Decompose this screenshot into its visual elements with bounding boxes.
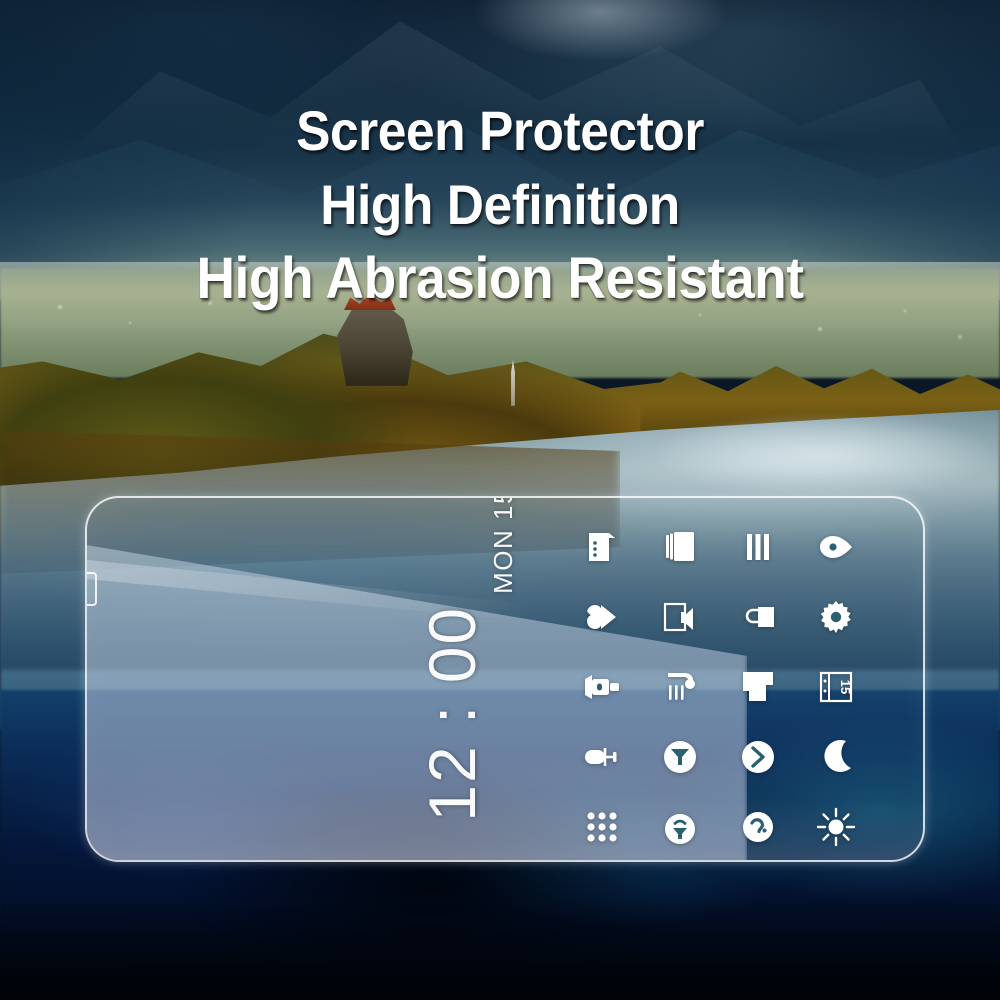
microphone-icon[interactable] (580, 735, 624, 779)
mug-lock-icon[interactable] (736, 595, 780, 639)
quick-settings-icon-grid: 15 (563, 512, 875, 862)
three-bars-icon[interactable] (736, 525, 780, 569)
location-pin-eye-icon[interactable] (814, 525, 858, 569)
flashlight-icon[interactable] (580, 665, 624, 709)
video-camera-icon[interactable] (658, 595, 702, 639)
gear-icon[interactable] (814, 595, 858, 639)
filter-circle-icon[interactable] (658, 735, 702, 779)
wifi-hotspot-icon[interactable] (658, 805, 702, 849)
clock-chevron-icon[interactable] (736, 735, 780, 779)
question-mark-icon[interactable] (736, 805, 780, 849)
calendar-icon[interactable]: 15 (814, 665, 858, 709)
crescent-moon-icon[interactable] (814, 735, 858, 779)
headline-line-1: Screen Protector (40, 94, 960, 168)
clock-time: 12 : 00 (419, 606, 485, 822)
bottom-vignette (0, 900, 1000, 1000)
headline-line-2: High Definition (40, 168, 960, 242)
headline-block: Screen Protector High Definition High Ab… (40, 94, 960, 316)
book-pages-icon[interactable] (658, 525, 702, 569)
copy-layers-icon[interactable] (736, 665, 780, 709)
dialpad-grid-icon[interactable] (580, 805, 624, 849)
lockscreen-clock: 12 : 00 MON 15 FEB (382, 508, 522, 738)
shower-head-icon[interactable] (658, 665, 702, 709)
camera-cutout-notch (85, 572, 97, 606)
calendar-day-number: 15 (838, 680, 853, 694)
product-image-canvas: Screen Protector High Definition High Ab… (0, 0, 1000, 1000)
clock-date: MON 15 FEB (490, 496, 522, 594)
screen-protector-sheet: 12 : 00 MON 15 FEB (85, 496, 925, 862)
heart-icon[interactable] (580, 595, 624, 639)
message-bubble-icon[interactable] (580, 525, 624, 569)
headline-line-3: High Abrasion Resistant (40, 242, 960, 316)
sun-brightness-icon[interactable] (814, 805, 858, 849)
